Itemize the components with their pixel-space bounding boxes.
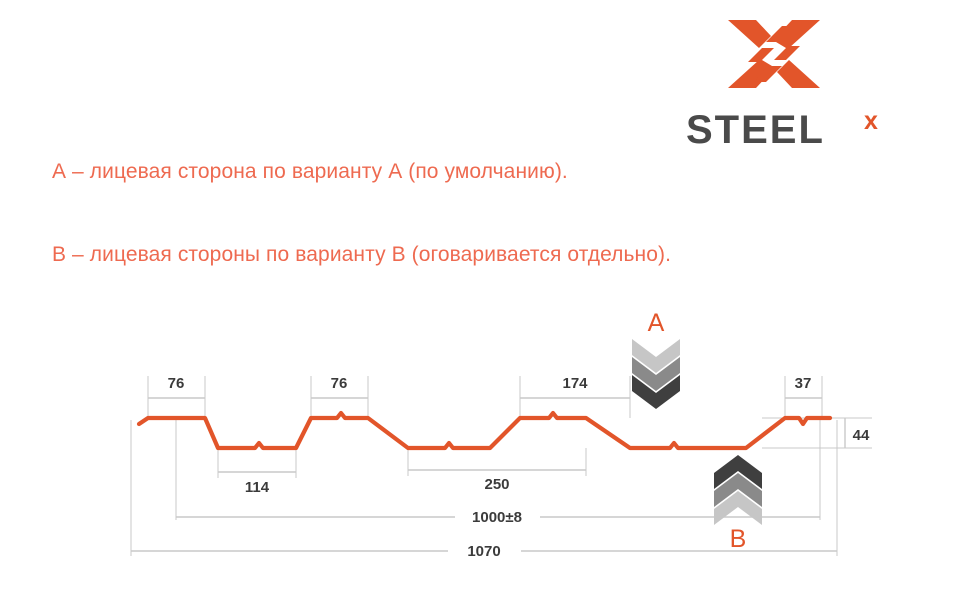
dimension-crest-right-37: 37 <box>795 375 812 392</box>
dimension-valley-114: 114 <box>245 479 270 496</box>
marker-b-chevrons-up-icon <box>714 455 762 525</box>
extension-lines <box>131 376 872 556</box>
marker-a: А <box>632 309 680 409</box>
dimension-width-useful: 1000±8 <box>472 509 522 526</box>
dimension-labels: 76 76 174 37 44 114 250 1000±8 1070 <box>168 375 870 560</box>
dimension-height-44: 44 <box>853 427 870 444</box>
marker-a-chevrons-down-icon <box>632 339 680 409</box>
dimension-crest-left-76: 76 <box>168 375 185 392</box>
marker-a-letter: А <box>648 309 665 337</box>
dimension-crest-174: 174 <box>562 375 588 392</box>
page-root: STEEL x А – лицевая сторона по варианту … <box>0 0 970 597</box>
profile-cross-section-line <box>139 413 830 448</box>
marker-b: В <box>714 455 762 553</box>
dimension-crest-mid-76: 76 <box>331 375 348 392</box>
dimension-width-total: 1070 <box>467 543 500 560</box>
marker-b-letter: В <box>730 525 747 553</box>
profile-drawing: 76 76 174 37 44 114 250 1000±8 1070 А <box>0 0 970 597</box>
dimension-valley-250: 250 <box>484 476 509 493</box>
